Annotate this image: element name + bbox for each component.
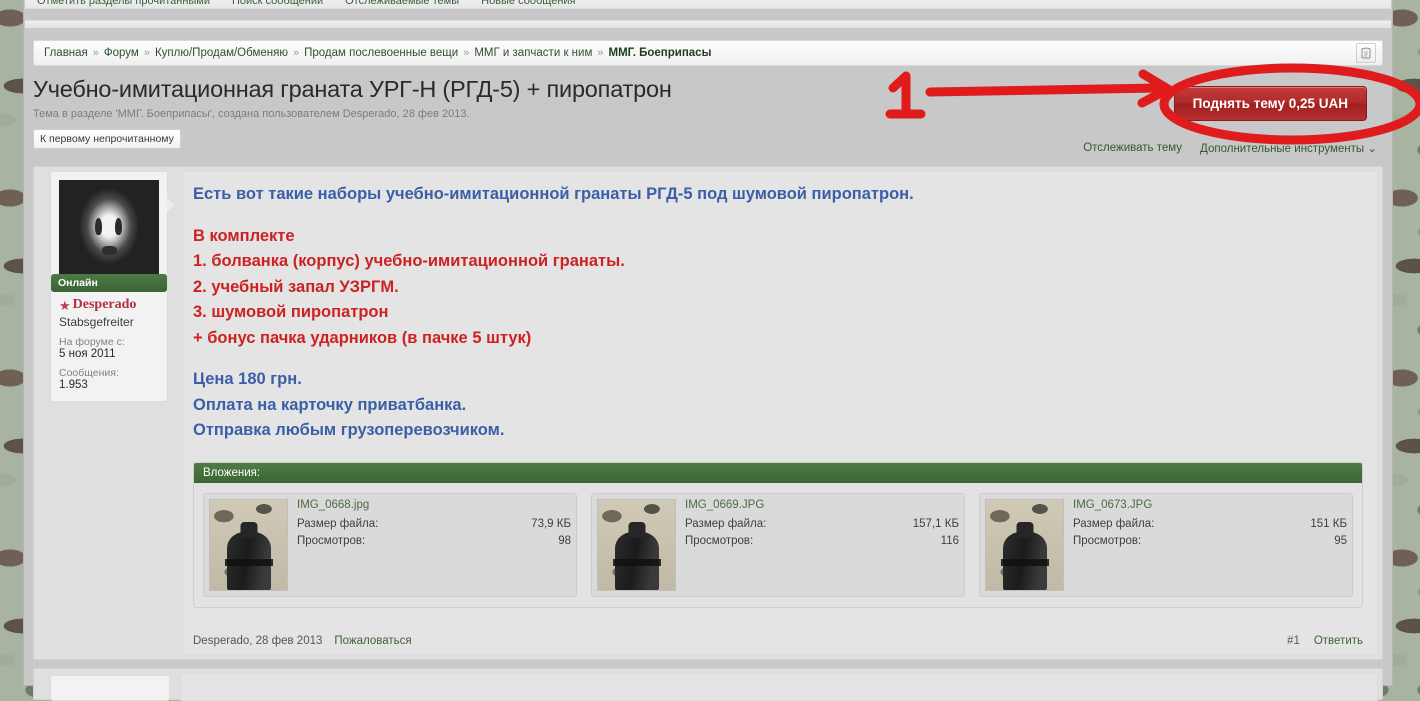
breadcrumb-item-home[interactable]: Главная [44, 47, 88, 59]
attachment-views-value: 98 [558, 533, 571, 550]
avatar-eye-left [95, 218, 102, 235]
message-spacer [193, 351, 1363, 367]
grenade-band [1001, 559, 1049, 566]
attachments-box: Вложения: IMG_0668.jpg [193, 462, 1363, 608]
joined-label: На форуме с: [59, 336, 159, 348]
post-number[interactable]: #1 [1287, 635, 1300, 647]
post-author-date: Desperado, 28 фев 2013 [193, 635, 322, 647]
more-tools-label: Дополнительные инструменты [1200, 143, 1364, 155]
clipboard-icon[interactable] [1356, 43, 1376, 63]
next-post-user-card [50, 675, 170, 701]
attachment-filename[interactable]: IMG_0669.JPG [685, 499, 959, 511]
attachments-list: IMG_0668.jpg Размер файла: 73,9 КБ Просм… [194, 483, 1362, 607]
attachment-views-label: Просмотров: [297, 533, 365, 550]
attachment-item[interactable]: IMG_0668.jpg Размер файла: 73,9 КБ Просм… [203, 493, 577, 597]
attachment-info: IMG_0668.jpg Размер файла: 73,9 КБ Просм… [297, 499, 571, 591]
username-row[interactable]: ★ Desperado [59, 297, 159, 313]
message-line: В комплекте [193, 224, 1363, 250]
message-line: Оплата на карточку приватбанка. [193, 393, 1363, 419]
attachment-filename[interactable]: IMG_0668.jpg [297, 499, 571, 511]
user-card: Онлайн ★ Desperado Stabsgefreiter На фор… [50, 171, 168, 402]
next-post-container [33, 668, 1383, 700]
grenade-cap [628, 522, 645, 538]
username[interactable]: Desperado [73, 297, 137, 313]
post-message-column: Есть вот такие наборы учебно-имитационно… [182, 171, 1378, 655]
attachment-views-row: Просмотров: 116 [685, 533, 959, 550]
next-post-message [180, 673, 1378, 701]
attachment-views-label: Просмотров: [1073, 533, 1141, 550]
message-line: Есть вот такие наборы учебно-имитационно… [193, 182, 1363, 208]
grenade-band [613, 559, 661, 566]
attachments-header: Вложения: [194, 463, 1362, 483]
attachment-item[interactable]: IMG_0669.JPG Размер файла: 157,1 КБ Прос… [591, 493, 965, 597]
topnav-item-mark-read[interactable]: Отметить разделы прочитанными [37, 0, 210, 8]
breadcrumb-separator: » [144, 47, 150, 59]
breadcrumb-separator: » [93, 47, 99, 59]
breadcrumb: Главная » Форум » Куплю/Продам/Обменяю »… [33, 40, 1383, 66]
breadcrumb-item-buy-sell[interactable]: Куплю/Продам/Обменяю [155, 47, 288, 59]
posts-value: 1.953 [59, 379, 159, 391]
message-spacer [193, 208, 1363, 224]
attachment-views-value: 116 [941, 533, 959, 550]
grenade-cap [1016, 522, 1033, 538]
bump-thread-button[interactable]: Поднять тему 0,25 UAH [1174, 86, 1367, 121]
attachment-views-row: Просмотров: 95 [1073, 533, 1347, 550]
attachment-size-row: Размер файла: 73,9 КБ [297, 516, 571, 533]
message-line: + бонус пачка ударников (в пачке 5 штук) [193, 326, 1363, 352]
message-line: 1. болванка (корпус) учебно-имитационной… [193, 249, 1363, 275]
breadcrumb-separator: » [597, 47, 603, 59]
attachment-info: IMG_0673.JPG Размер файла: 151 КБ Просмо… [1073, 499, 1347, 591]
topnav-item-new-posts[interactable]: Новые сообщения [481, 0, 575, 8]
posts-label: Сообщения: [59, 367, 159, 379]
card-pointer [167, 198, 174, 212]
message-line: Цена 180 грн. [193, 367, 1363, 393]
attachment-size-value: 157,1 КБ [913, 516, 959, 533]
thread-tools-row: Отслеживать тему Дополнительные инструме… [1083, 141, 1377, 155]
attachment-size-label: Размер файла: [297, 516, 378, 533]
secondary-bar [25, 20, 1391, 28]
status-badge: Онлайн [51, 274, 167, 292]
post-user-column: Онлайн ★ Desperado Stabsgefreiter На фор… [34, 167, 182, 659]
attachment-thumbnail[interactable] [597, 499, 676, 591]
attachment-size-value: 73,9 КБ [531, 516, 571, 533]
attachment-thumbnail[interactable] [985, 499, 1064, 591]
breadcrumb-separator: » [293, 47, 299, 59]
forum-page: Отметить разделы прочитанными Поиск сооб… [24, 0, 1392, 685]
attachment-views-label: Просмотров: [685, 533, 753, 550]
top-navigation-bar: Отметить разделы прочитанными Поиск сооб… [25, 0, 1391, 9]
joined-value: 5 ноя 2011 [59, 348, 159, 360]
message-line: 2. учебный запал УЗРГМ. [193, 275, 1363, 301]
topnav-item-search-posts[interactable]: Поиск сообщений [232, 0, 323, 8]
watch-thread-link[interactable]: Отслеживать тему [1083, 142, 1182, 154]
post-container: Онлайн ★ Desperado Stabsgefreiter На фор… [33, 166, 1383, 660]
attachment-size-value: 151 КБ [1310, 516, 1347, 533]
user-rank: Stabsgefreiter [59, 315, 159, 329]
message-line: 3. шумовой пиропатрон [193, 300, 1363, 326]
attachment-filename[interactable]: IMG_0673.JPG [1073, 499, 1347, 511]
breadcrumb-item-mmg-parts[interactable]: ММГ и запчасти к ним [474, 47, 592, 59]
go-to-first-unread-button[interactable]: К первому непрочитанному [33, 129, 181, 149]
chevron-down-icon: ⌄ [1367, 143, 1377, 155]
avatar-eye-right [115, 218, 122, 235]
breadcrumb-item-current: ММГ. Боеприпасы [608, 47, 711, 59]
attachment-views-value: 95 [1334, 533, 1347, 550]
attachment-size-row: Размер файла: 157,1 КБ [685, 516, 959, 533]
post-message-body: Есть вот такие наборы учебно-имитационно… [193, 182, 1363, 444]
attachment-item[interactable]: IMG_0673.JPG Размер файла: 151 КБ Просмо… [979, 493, 1353, 597]
message-line: Отправка любым грузоперевозчиком. [193, 418, 1363, 444]
attachment-size-label: Размер файла: [1073, 516, 1154, 533]
page-inner: Отметить разделы прочитанными Поиск сооб… [25, 0, 1391, 685]
avatar[interactable] [59, 180, 159, 280]
attachment-thumbnail[interactable] [209, 499, 288, 591]
topnav-item-watched-threads[interactable]: Отслеживаемые темы [345, 0, 459, 8]
grenade-band [225, 559, 273, 566]
star-icon: ★ [59, 299, 71, 312]
attachment-info: IMG_0669.JPG Размер файла: 157,1 КБ Прос… [685, 499, 959, 591]
attachment-size-label: Размер файла: [685, 516, 766, 533]
attachment-views-row: Просмотров: 98 [297, 533, 571, 550]
grenade-cap [240, 522, 257, 538]
more-tools-dropdown[interactable]: Дополнительные инструменты ⌄ [1200, 141, 1377, 155]
breadcrumb-item-postwar[interactable]: Продам послевоенные вещи [304, 47, 458, 59]
post-footer: Desperado, 28 фев 2013 Пожаловаться #1 О… [193, 635, 1363, 647]
report-link[interactable]: Пожаловаться [334, 635, 411, 647]
breadcrumb-item-forum[interactable]: Форум [104, 47, 139, 59]
breadcrumb-separator: » [463, 47, 469, 59]
avatar-mouth [102, 246, 117, 255]
reply-link[interactable]: Ответить [1314, 635, 1363, 647]
attachment-size-row: Размер файла: 151 КБ [1073, 516, 1347, 533]
breadcrumb-list: Главная » Форум » Куплю/Продам/Обменяю »… [44, 47, 1356, 59]
